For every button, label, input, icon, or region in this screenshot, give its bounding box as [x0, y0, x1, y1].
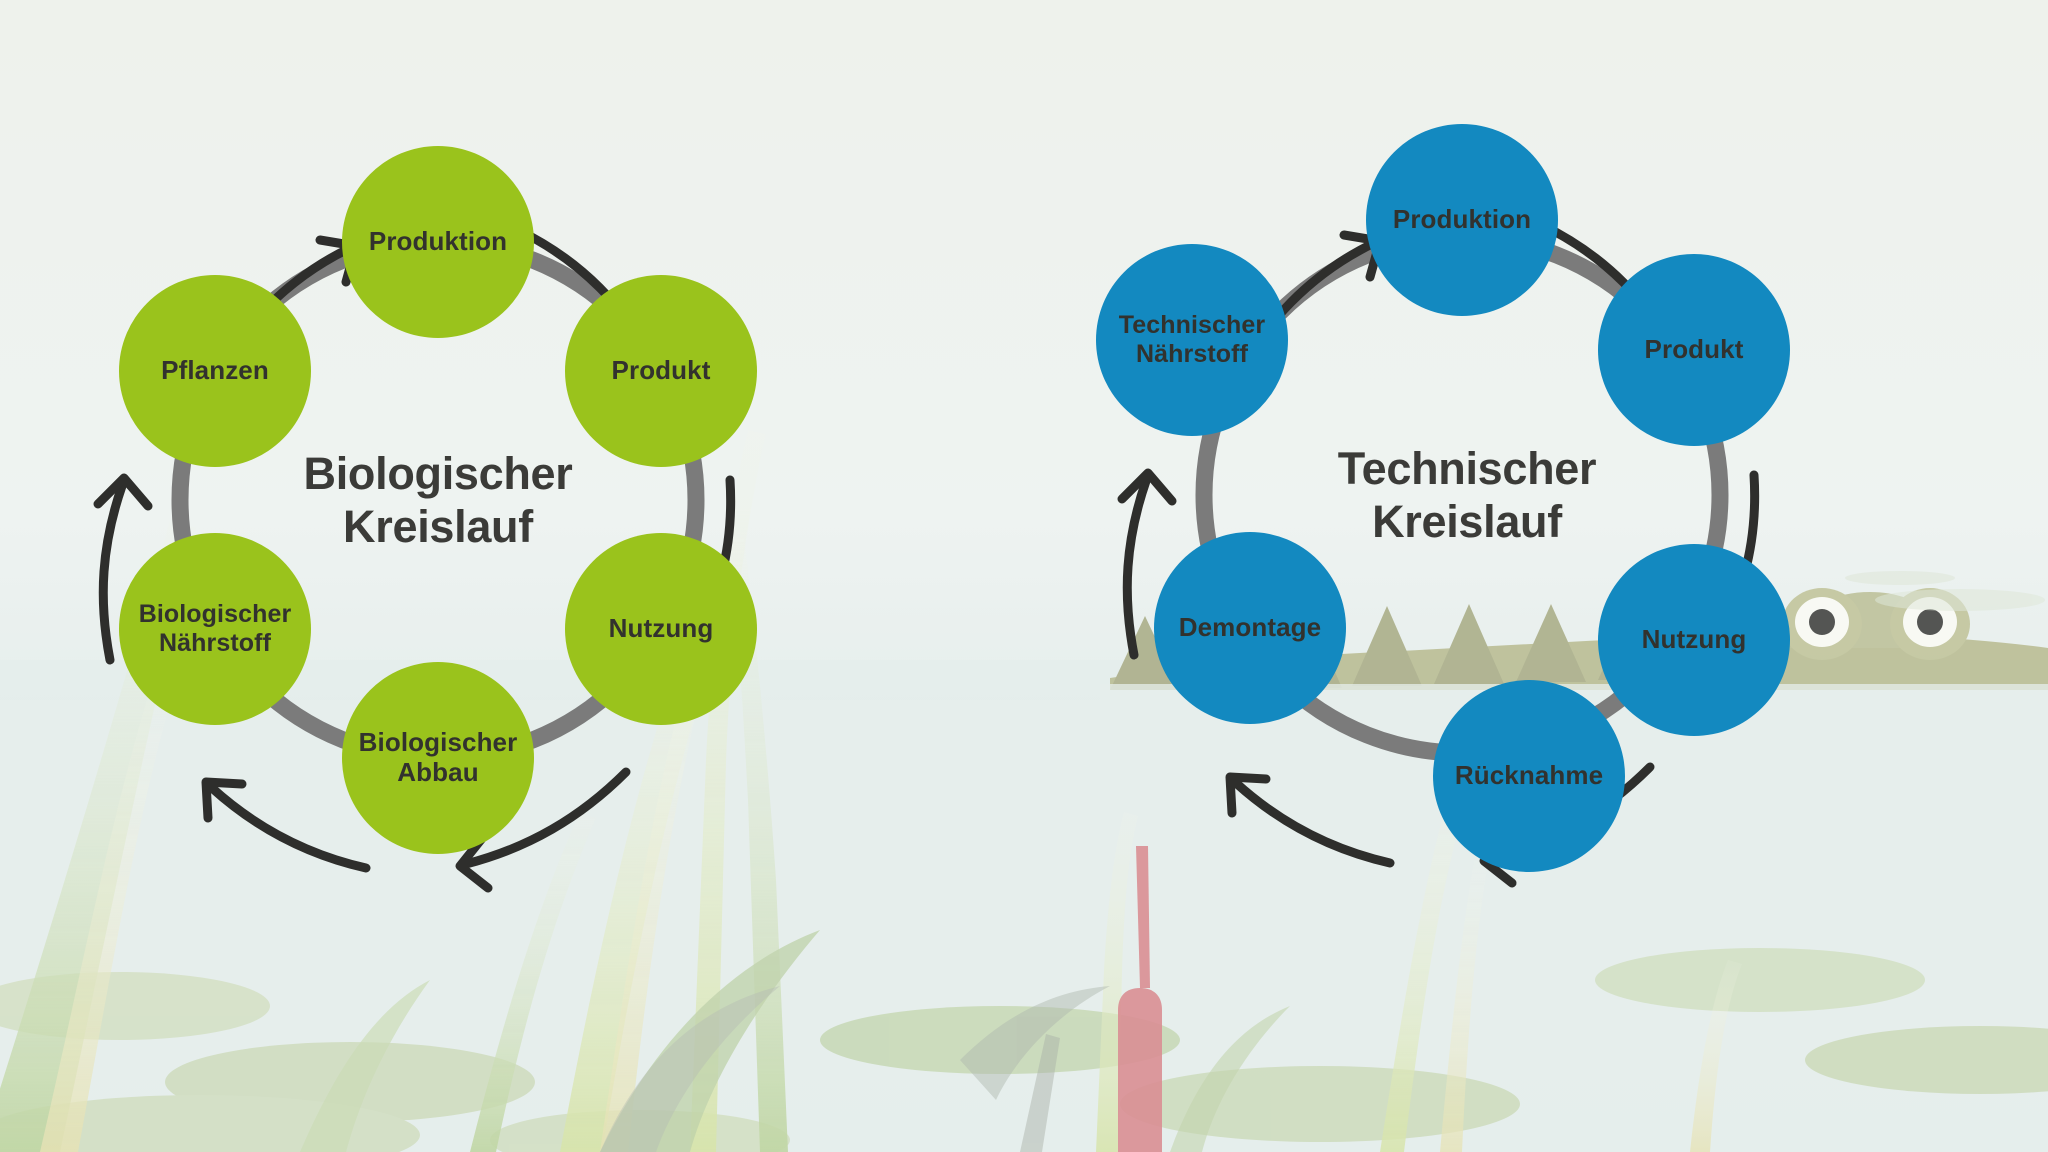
node-biologischer-abbau[interactable]: Biologischer Abbau [342, 662, 534, 854]
title-line-2: Kreislauf [304, 500, 573, 553]
node-demontage-technical[interactable]: Demontage [1154, 532, 1346, 724]
node-label-line2: Nährstoff [159, 629, 271, 657]
node-label: Biologischer Nährstoff [133, 600, 298, 658]
node-label: Demontage [1173, 613, 1327, 643]
node-label: Technischer Nährstoff [1113, 311, 1272, 369]
node-label: Nutzung [1636, 625, 1753, 655]
node-label-line1: Biologischer [139, 600, 292, 628]
node-produktion-technical[interactable]: Produktion [1366, 124, 1558, 316]
node-label-line1: Biologischer [359, 727, 518, 757]
node-produktion-biological[interactable]: Produktion [342, 146, 534, 338]
node-technischer-naehrstoff[interactable]: Technischer Nährstoff [1096, 244, 1288, 436]
node-produkt-biological[interactable]: Produkt [565, 275, 757, 467]
biological-cycle-diagram: Produktion Produkt Nutzung Biologischer … [88, 100, 788, 900]
node-label: Biologischer Abbau [353, 728, 524, 788]
node-label: Rücknahme [1449, 761, 1609, 791]
node-label-line1: Technischer [1119, 311, 1266, 339]
title-line-1: Technischer [1338, 442, 1596, 495]
node-label: Nutzung [603, 614, 720, 644]
node-label: Produktion [363, 227, 513, 257]
node-label: Produkt [606, 356, 717, 386]
node-label: Produktion [1387, 205, 1537, 235]
node-nutzung-biological[interactable]: Nutzung [565, 533, 757, 725]
node-produkt-technical[interactable]: Produkt [1598, 254, 1790, 446]
title-line-2: Kreislauf [1338, 495, 1596, 548]
title-line-1: Biologischer [304, 447, 573, 500]
technical-cycle-title: Technischer Kreislauf [1338, 442, 1596, 548]
diagram-canvas: Produktion Produkt Nutzung Biologischer … [0, 0, 2048, 1152]
node-label-line2: Nährstoff [1136, 340, 1248, 368]
node-label: Pflanzen [155, 356, 275, 386]
node-pflanzen-biological[interactable]: Pflanzen [119, 275, 311, 467]
node-biologischer-naehrstoff[interactable]: Biologischer Nährstoff [119, 533, 311, 725]
node-label: Produkt [1639, 335, 1750, 365]
node-label-line2: Abbau [397, 757, 478, 787]
node-nutzung-technical[interactable]: Nutzung [1598, 544, 1790, 736]
technical-cycle-diagram: Produktion Produkt Nutzung Rücknahme Dem… [1112, 95, 1812, 895]
node-ruecknahme-technical[interactable]: Rücknahme [1433, 680, 1625, 872]
biological-cycle-title: Biologischer Kreislauf [304, 447, 573, 553]
